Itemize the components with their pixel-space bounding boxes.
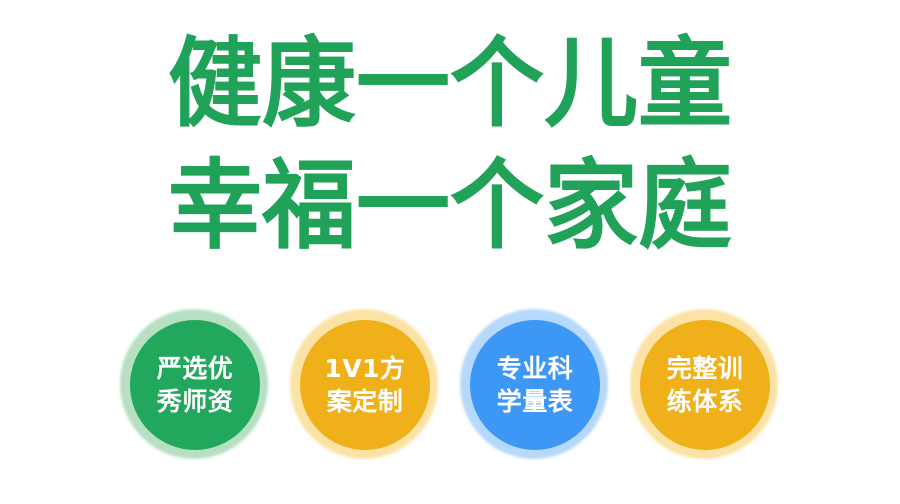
feature-badge-teacher-selection[interactable]: 严选优 秀师资 bbox=[120, 309, 270, 461]
badge-label-line-2: 案定制 bbox=[327, 385, 404, 418]
feature-badge-training-system[interactable]: 完整训 练体系 bbox=[630, 309, 780, 461]
promo-poster: 健康一个儿童 幸福一个家庭 严选优 秀师资 1V1方 案定制 专业科 学量表 bbox=[0, 0, 900, 504]
badge-label-line-1: 严选优 bbox=[157, 352, 234, 385]
badge-disc: 严选优 秀师资 bbox=[130, 320, 260, 450]
headline-line-2: 幸福一个家庭 bbox=[0, 144, 900, 271]
badge-label-line-1: 完整训 bbox=[667, 352, 744, 385]
feature-badge-row: 严选优 秀师资 1V1方 案定制 专业科 学量表 完整训 练体系 bbox=[0, 309, 900, 465]
badge-disc: 完整训 练体系 bbox=[640, 320, 770, 450]
badge-label-line-2: 秀师资 bbox=[157, 385, 234, 418]
feature-badge-one-to-one-plan[interactable]: 1V1方 案定制 bbox=[290, 309, 440, 461]
feature-badge-scientific-scale[interactable]: 专业科 学量表 bbox=[460, 309, 610, 461]
badge-label-line-2: 学量表 bbox=[497, 385, 574, 418]
badge-disc: 专业科 学量表 bbox=[470, 320, 600, 450]
badge-label-line-1: 专业科 bbox=[497, 352, 574, 385]
badge-label-line-2: 练体系 bbox=[667, 385, 744, 418]
badge-label-line-1: 1V1方 bbox=[324, 352, 405, 385]
badge-disc: 1V1方 案定制 bbox=[300, 320, 430, 450]
headline-block: 健康一个儿童 幸福一个家庭 bbox=[0, 22, 900, 266]
headline-line-1: 健康一个儿童 bbox=[0, 22, 900, 149]
